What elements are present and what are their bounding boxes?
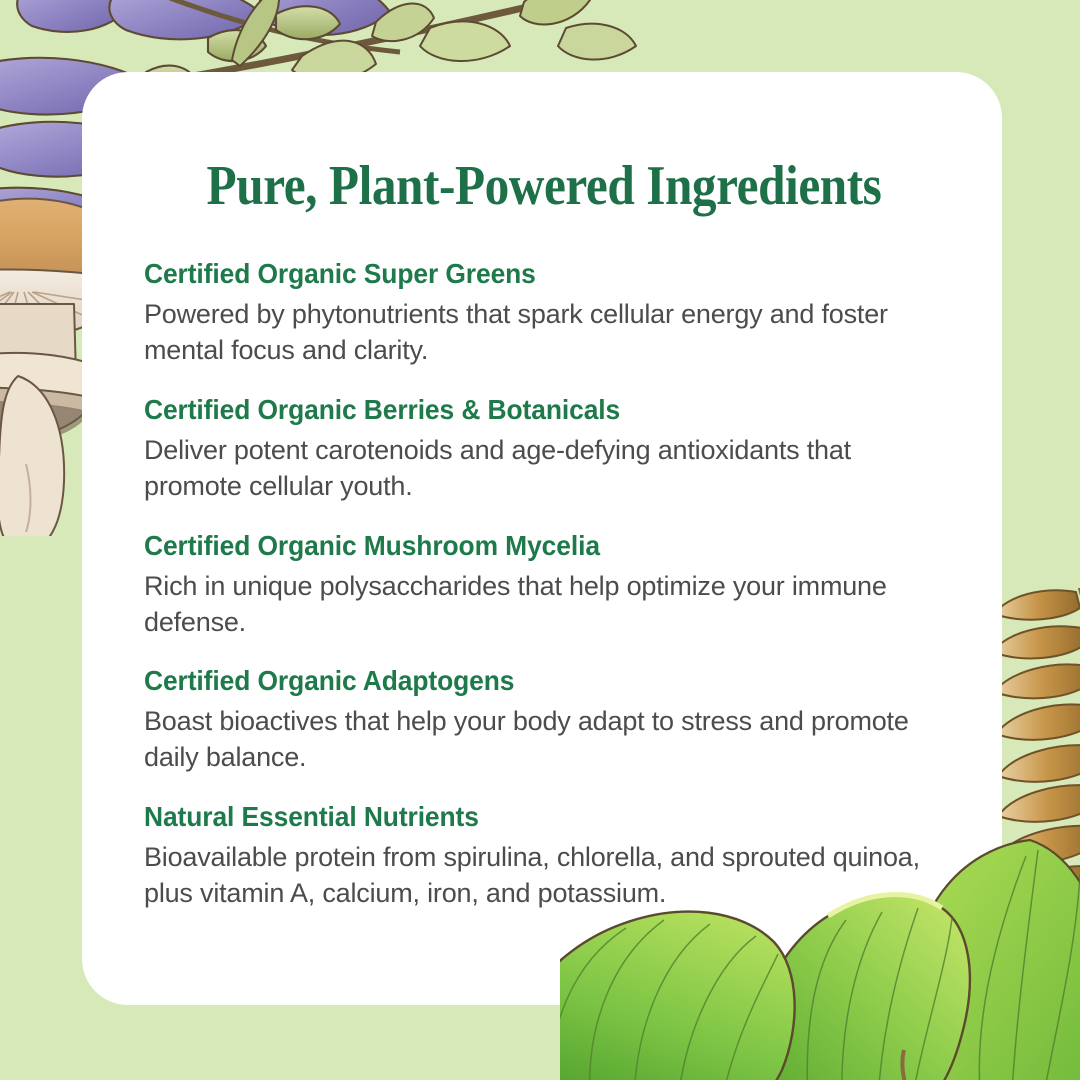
ingredient-item: Certified Organic Super Greens Powered b… (144, 258, 944, 369)
ingredients-card: Pure, Plant-Powered Ingredients Certifie… (82, 72, 1002, 1005)
ingredient-item: Natural Essential Nutrients Bioavailable… (144, 801, 944, 912)
ingredient-item: Certified Organic Berries & Botanicals D… (144, 394, 944, 505)
ingredient-description: Deliver potent carotenoids and age-defyi… (144, 433, 944, 505)
ingredient-name: Natural Essential Nutrients (144, 801, 912, 833)
ingredient-description: Bioavailable protein from spirulina, chl… (144, 840, 944, 912)
ingredient-item: Certified Organic Mushroom Mycelia Rich … (144, 530, 944, 641)
ingredient-name: Certified Organic Berries & Botanicals (144, 394, 912, 426)
ingredient-description: Boast bioactives that help your body ada… (144, 704, 944, 776)
poster-canvas: Pure, Plant-Powered Ingredients Certifie… (0, 0, 1080, 1080)
page-title: Pure, Plant-Powered Ingredients (192, 154, 896, 218)
ingredient-item: Certified Organic Adaptogens Boast bioac… (144, 665, 944, 776)
ingredient-name: Certified Organic Mushroom Mycelia (144, 530, 912, 562)
ingredient-description: Powered by phytonutrients that spark cel… (144, 297, 944, 369)
ingredient-description: Rich in unique polysaccharides that help… (144, 569, 944, 641)
ingredient-name: Certified Organic Adaptogens (144, 665, 912, 697)
ingredient-name: Certified Organic Super Greens (144, 258, 912, 290)
